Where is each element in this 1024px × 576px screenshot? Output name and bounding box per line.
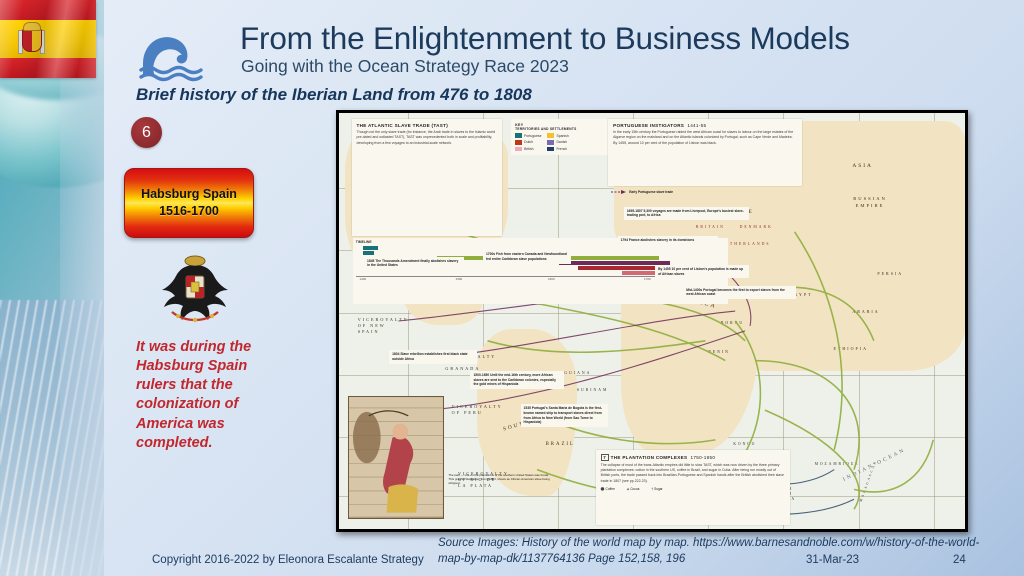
commodity-coffee: ⚫ Coffee	[601, 487, 615, 491]
commodity-sugar: † Sugar	[651, 487, 662, 491]
era-card[interactable]: Habsburg Spain 1516-1700	[124, 168, 254, 238]
map-annotation-slave-rebellion: 1804 Slave rebellion establishes first b…	[389, 350, 477, 364]
map-panel-tast-body: Though not the only slave trade (for ins…	[357, 130, 497, 146]
map-annotation-caribbean-colonies: 1500-1650 Until the mid-16th century, mo…	[470, 371, 564, 389]
page-title: From the Enlightenment to Business Model…	[240, 22, 940, 55]
dashed-arrow-icon	[611, 190, 627, 194]
section-title: Brief history of the Iberian Land from 4…	[136, 85, 532, 105]
map-annotation-lisbon-population: By 1455 10 per cent of Lisbon's populati…	[655, 265, 749, 279]
map-legend-route-portuguese: Early Portuguese slave trade	[611, 190, 673, 194]
key-swatch-dutch	[515, 140, 522, 145]
world-map-image[interactable]: ATLANTIC OCEAN INDIAN OCEAN CANADA UNITE…	[336, 110, 968, 532]
key-swatch-british	[515, 147, 522, 152]
source-credit: Source Images: History of the world map …	[438, 536, 998, 568]
map-annotation-fish-canada: 1700s Fish from eastern Canada and Newfo…	[483, 250, 571, 264]
step-badge: 6	[131, 117, 162, 148]
era-card-name: Habsburg Spain	[141, 187, 237, 201]
colonization-note: It was during the Habsburg Spain rulers …	[136, 338, 266, 453]
timeline-tick-1500: 1500	[456, 277, 463, 281]
map-panel-plantation-number: 7	[601, 454, 609, 461]
key-swatch-spanish	[547, 133, 554, 138]
key-entry-spanish: Spanish	[547, 133, 568, 138]
map-panel-plantation-heading: THE PLANTATION COMPLEXES	[611, 455, 688, 460]
timeline-tick-1700: 1700	[644, 277, 651, 281]
slide: From the Enlightenment to Business Model…	[0, 0, 1024, 576]
commodity-cocoa: ◈ Cocoa	[627, 487, 640, 491]
wave-photo-background	[0, 0, 104, 576]
timeline-tick-1400: 1400	[359, 277, 366, 281]
map-panel-tast-heading: THE ATLANTIC SLAVE TRADE (TAST)	[357, 123, 497, 128]
map-panel-plantation-dates: 1750-1850	[691, 455, 716, 460]
map-panel-plantation-body: The collapse of most of the trans-Atlant…	[601, 463, 785, 484]
map-panel-portuguese-instigators: PORTUGUESE INSTIGATORS 1441-55 In the ea…	[608, 119, 802, 186]
map-annotation-santa-maria: 1535 Portugal's Santa Maria de Bogota is…	[521, 404, 609, 427]
ocean-wave-icon	[139, 32, 231, 82]
map-annotation-france-abolishes: 1794 France abolishes slavery in its dom…	[618, 236, 718, 245]
map-inset-the-lash	[348, 396, 444, 519]
habsburg-double-headed-eagle-icon	[158, 248, 232, 328]
key-swatch-danish	[547, 140, 554, 145]
map-panel-tast: THE ATLANTIC SLAVE TRADE (TAST) Though n…	[352, 119, 502, 235]
timeline-tick-1600: 1600	[548, 277, 555, 281]
key-swatch-french	[547, 147, 554, 152]
spain-flag-icon	[0, 0, 96, 78]
map-inset-caption: The lash — Life on the plantations of th…	[445, 471, 558, 488]
key-swatch-portuguese	[515, 133, 522, 138]
copyright-text: Copyright 2016-2022 by Eleonora Escalant…	[152, 554, 424, 566]
map-panel-portuguese-body: In the early 15th century the Portuguese…	[613, 130, 797, 146]
era-card-years: 1516-1700	[159, 204, 219, 218]
page-subtitle: Going with the Ocean Strategy Race 2023	[241, 57, 569, 76]
slide-date: 31-Mar-23	[806, 554, 859, 566]
map-annotation-liverpool: 1695-1807 5,300 voyages are made from Li…	[624, 207, 749, 221]
map-panel-portuguese-heading: PORTUGUESE INSTIGATORS	[613, 123, 684, 128]
key-entry-danish: Danish	[547, 140, 568, 145]
map-panel-plantation-complexes: 7THE PLANTATION COMPLEXES 1750-1850 The …	[596, 450, 790, 525]
key-entry-portuguese: Portuguese	[515, 133, 541, 138]
key-entry-french: French	[547, 147, 568, 152]
map-panel-portuguese-dates: 1441-55	[687, 123, 706, 128]
map-annotation-amendment: 1845 The Thousands Amendment finally abo…	[364, 257, 464, 271]
key-entry-dutch: Dutch	[515, 140, 541, 145]
key-entry-british: British	[515, 147, 541, 152]
slide-number: 24	[953, 554, 966, 566]
map-annotation-mid-1400s: Mid-1400s Portugal becomes the first to …	[683, 286, 796, 300]
